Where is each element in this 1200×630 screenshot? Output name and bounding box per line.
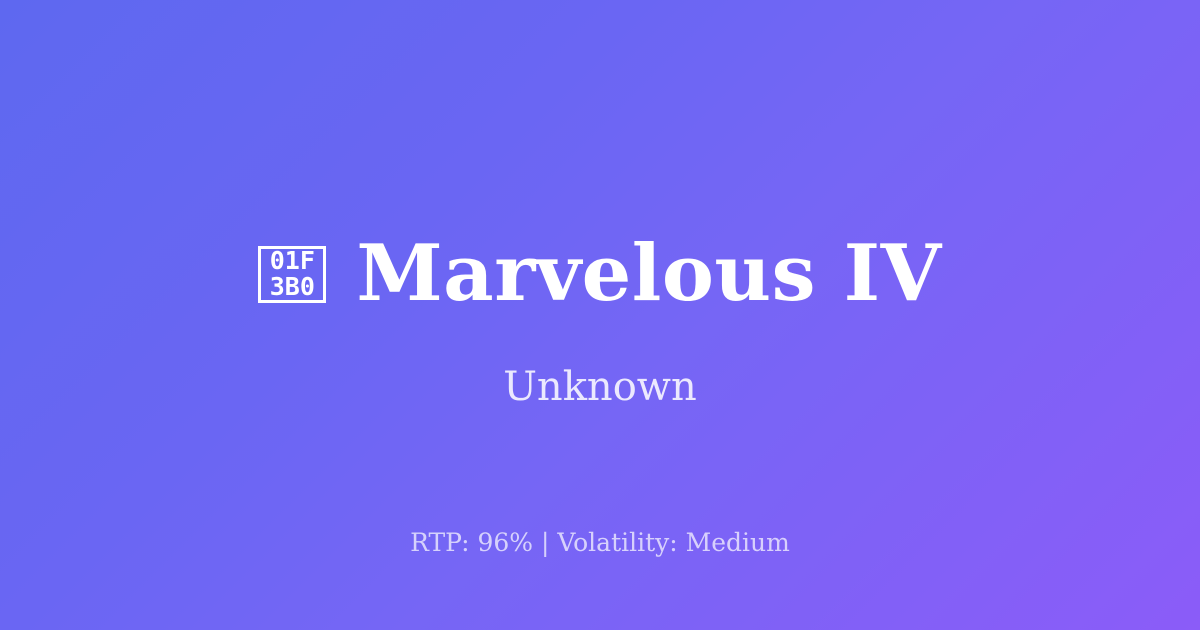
slot-machine-icon: 01F 3B0 — [258, 246, 326, 303]
game-provider-subtitle: Unknown — [0, 363, 1200, 411]
game-stats-line: RTP: 96% | Volatility: Medium — [0, 528, 1200, 558]
title-row: 01F 3B0 Marvelous IV — [0, 232, 1200, 316]
page-title: Marvelous IV — [356, 232, 941, 316]
game-share-card: 01F 3B0 Marvelous IV Unknown RTP: 96% | … — [0, 0, 1200, 630]
slot-machine-icon-codepoint-high: 01F — [270, 248, 315, 274]
slot-machine-icon-codepoint-low: 3B0 — [270, 274, 315, 300]
